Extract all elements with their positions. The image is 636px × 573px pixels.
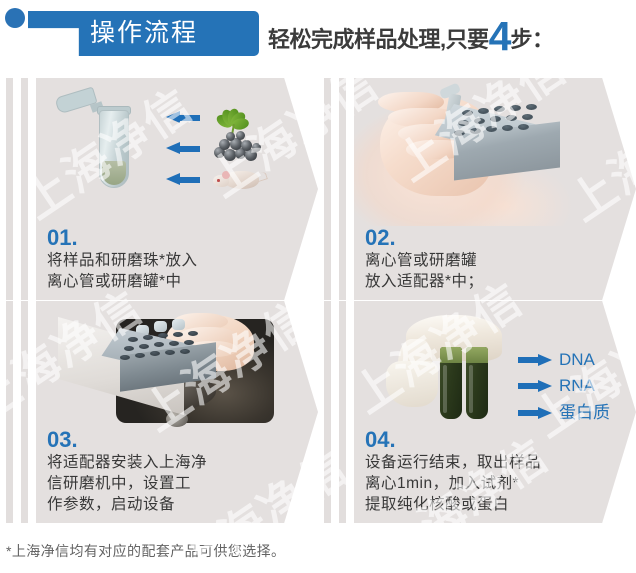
right-arrow-icon bbox=[518, 407, 552, 420]
decorative-stripe bbox=[6, 78, 13, 300]
well-grid bbox=[120, 329, 216, 361]
decorative-stripe bbox=[324, 301, 331, 523]
step-text: 离心管或研磨罐 放入适配器*中； bbox=[365, 250, 617, 292]
step-text-line: 离心管或研磨罐*中 bbox=[47, 271, 299, 292]
step-4-caption: 04. 设备运行结束，取出样品 离心1min，加入试剂* 提取纯化核酸或蛋白 bbox=[365, 427, 617, 515]
step-panel-4: DNA RNA 蛋白质 04. 设备运行结束， bbox=[354, 301, 636, 523]
step-2-illustration bbox=[354, 78, 636, 226]
decorative-stripe bbox=[21, 78, 28, 300]
decorative-stripe bbox=[324, 78, 331, 300]
right-arrow-icon bbox=[518, 380, 552, 393]
step-text-line: 将样品和研磨珠*放入 bbox=[47, 250, 299, 271]
step-text-line: 离心1min，加入试剂* bbox=[365, 473, 617, 494]
output-row-rna: RNA bbox=[518, 377, 595, 395]
output-label: 蛋白质 bbox=[559, 404, 610, 422]
decorative-stripe bbox=[6, 301, 13, 523]
centrifuge-tube-icon bbox=[99, 110, 129, 188]
step-1-caption: 01. 将样品和研磨珠*放入 离心管或研磨罐*中 bbox=[47, 225, 299, 292]
step-panel-3: 03. 将适配器安装入上海净 信研磨机中，设置工 作参数，启动设备 bbox=[36, 301, 318, 523]
step-text-line: 离心管或研磨罐 bbox=[365, 250, 617, 271]
glove-palm-icon bbox=[386, 361, 438, 407]
step-text-line: 提取纯化核酸或蛋白 bbox=[365, 494, 617, 515]
output-row-protein: 蛋白质 bbox=[518, 404, 610, 422]
step-text: 将样品和研磨珠*放入 离心管或研磨罐*中 bbox=[47, 250, 299, 292]
step-3-caption: 03. 将适配器安装入上海净 信研磨机中，设置工 作参数，启动设备 bbox=[47, 427, 299, 515]
well-grid bbox=[454, 104, 560, 140]
step-card-2: 02. 离心管或研磨罐 放入适配器*中； bbox=[318, 78, 636, 300]
left-arrow-icon bbox=[166, 173, 200, 186]
left-arrow-icon bbox=[166, 111, 200, 124]
output-label: RNA bbox=[559, 377, 595, 395]
step-3-illustration bbox=[58, 311, 284, 429]
decorative-stripe bbox=[339, 301, 346, 523]
step-text-line: 信研磨机中，设置工 bbox=[47, 473, 299, 494]
step-number: 04. bbox=[365, 427, 617, 452]
headline-suffix: 步： bbox=[510, 22, 553, 54]
mouse-icon bbox=[211, 166, 265, 194]
step-card-3: 03. 将适配器安装入上海净 信研磨机中，设置工 作参数，启动设备 bbox=[0, 301, 318, 523]
banner-dot-icon bbox=[5, 8, 25, 28]
headline: 轻松完成样品处理,只要 4 步： bbox=[268, 16, 553, 56]
step-text-line: 设备运行结束，取出样品 bbox=[365, 452, 617, 473]
step-text: 设备运行结束，取出样品 离心1min，加入试剂* 提取纯化核酸或蛋白 bbox=[365, 452, 617, 515]
sample-tube-icon bbox=[466, 347, 488, 419]
tube-liquid-icon bbox=[102, 161, 126, 185]
step-1-illustration bbox=[36, 78, 318, 228]
step-number: 03. bbox=[47, 427, 299, 452]
step-panel-2: 02. 离心管或研磨罐 放入适配器*中； bbox=[354, 78, 636, 300]
footnote: *上海净信均有对应的配套产品可供您选择。 bbox=[6, 541, 285, 561]
grinding-beads-icon bbox=[210, 135, 264, 161]
step-text: 将适配器安装入上海净 信研磨机中，设置工 作参数，启动设备 bbox=[47, 452, 299, 515]
leaf-icon bbox=[212, 102, 260, 136]
step-4-illustration: DNA RNA 蛋白质 bbox=[368, 309, 630, 433]
step-card-4: DNA RNA 蛋白质 04. 设备运行结束， bbox=[318, 301, 636, 523]
page-header: 操作流程 轻松完成样品处理,只要 4 步： bbox=[0, 0, 636, 70]
step-text-line: 作参数，启动设备 bbox=[47, 494, 299, 515]
step-text-line: 放入适配器*中； bbox=[365, 271, 617, 292]
steps-grid: 01. 将样品和研磨珠*放入 离心管或研磨罐*中 bbox=[0, 78, 636, 523]
step-2-caption: 02. 离心管或研磨罐 放入适配器*中； bbox=[365, 225, 617, 292]
right-arrow-icon bbox=[518, 354, 552, 367]
step-number: 02. bbox=[365, 225, 617, 250]
decorative-stripe bbox=[21, 301, 28, 523]
section-title: 操作流程 bbox=[90, 14, 258, 52]
step-number: 01. bbox=[47, 225, 299, 250]
headline-step-count: 4 bbox=[489, 19, 511, 53]
machine-knob-icon bbox=[166, 411, 188, 427]
output-label: DNA bbox=[559, 351, 595, 369]
sample-tube-icon bbox=[440, 347, 462, 419]
left-arrow-icon bbox=[166, 142, 200, 155]
step-panel-1: 01. 将样品和研磨珠*放入 离心管或研磨罐*中 bbox=[36, 78, 318, 300]
headline-prefix: 轻松完成样品处理,只要 bbox=[268, 22, 489, 54]
step-card-1: 01. 将样品和研磨珠*放入 离心管或研磨罐*中 bbox=[0, 78, 318, 300]
output-row-dna: DNA bbox=[518, 351, 595, 369]
step-text-line: 将适配器安装入上海净 bbox=[47, 452, 299, 473]
decorative-stripe bbox=[339, 78, 346, 300]
